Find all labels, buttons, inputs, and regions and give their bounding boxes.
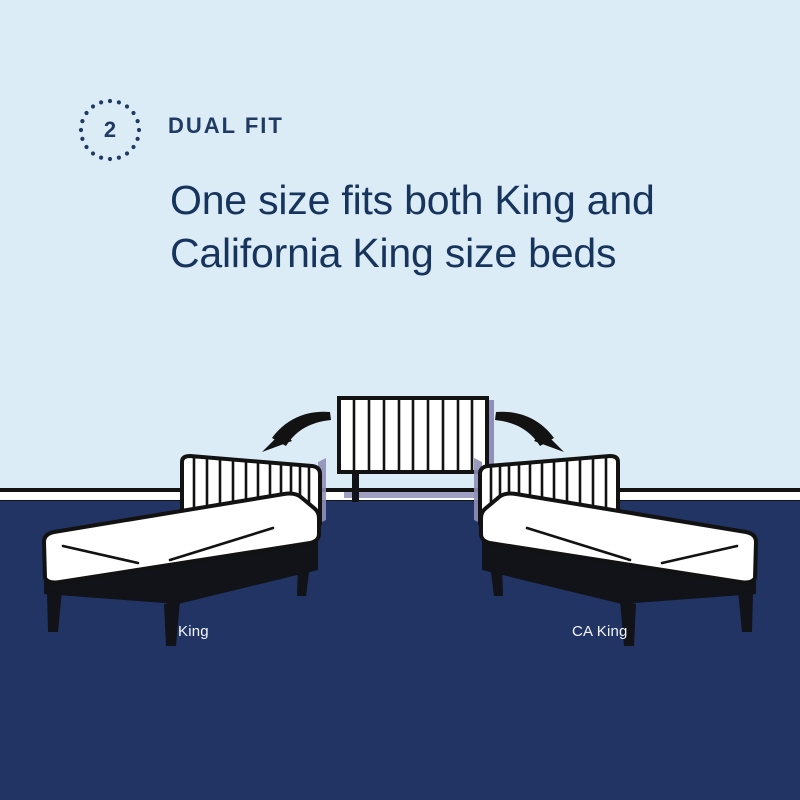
- infographic-panel: 2 DUAL FIT One size fits both King and C…: [0, 0, 800, 800]
- headline-line-2: California King size beds: [170, 227, 770, 280]
- headline: One size fits both King and California K…: [170, 174, 770, 281]
- bed-caption-ca-king: CA King: [572, 623, 628, 640]
- headboard-leg-left: [352, 470, 359, 502]
- headline-line-1: One size fits both King and: [170, 174, 770, 227]
- step-badge: 2: [78, 98, 142, 162]
- step-number: 2: [78, 98, 142, 162]
- eyebrow-label: DUAL FIT: [168, 113, 284, 139]
- baseboard-topline: [0, 488, 800, 492]
- bed-caption-king: King: [178, 623, 209, 640]
